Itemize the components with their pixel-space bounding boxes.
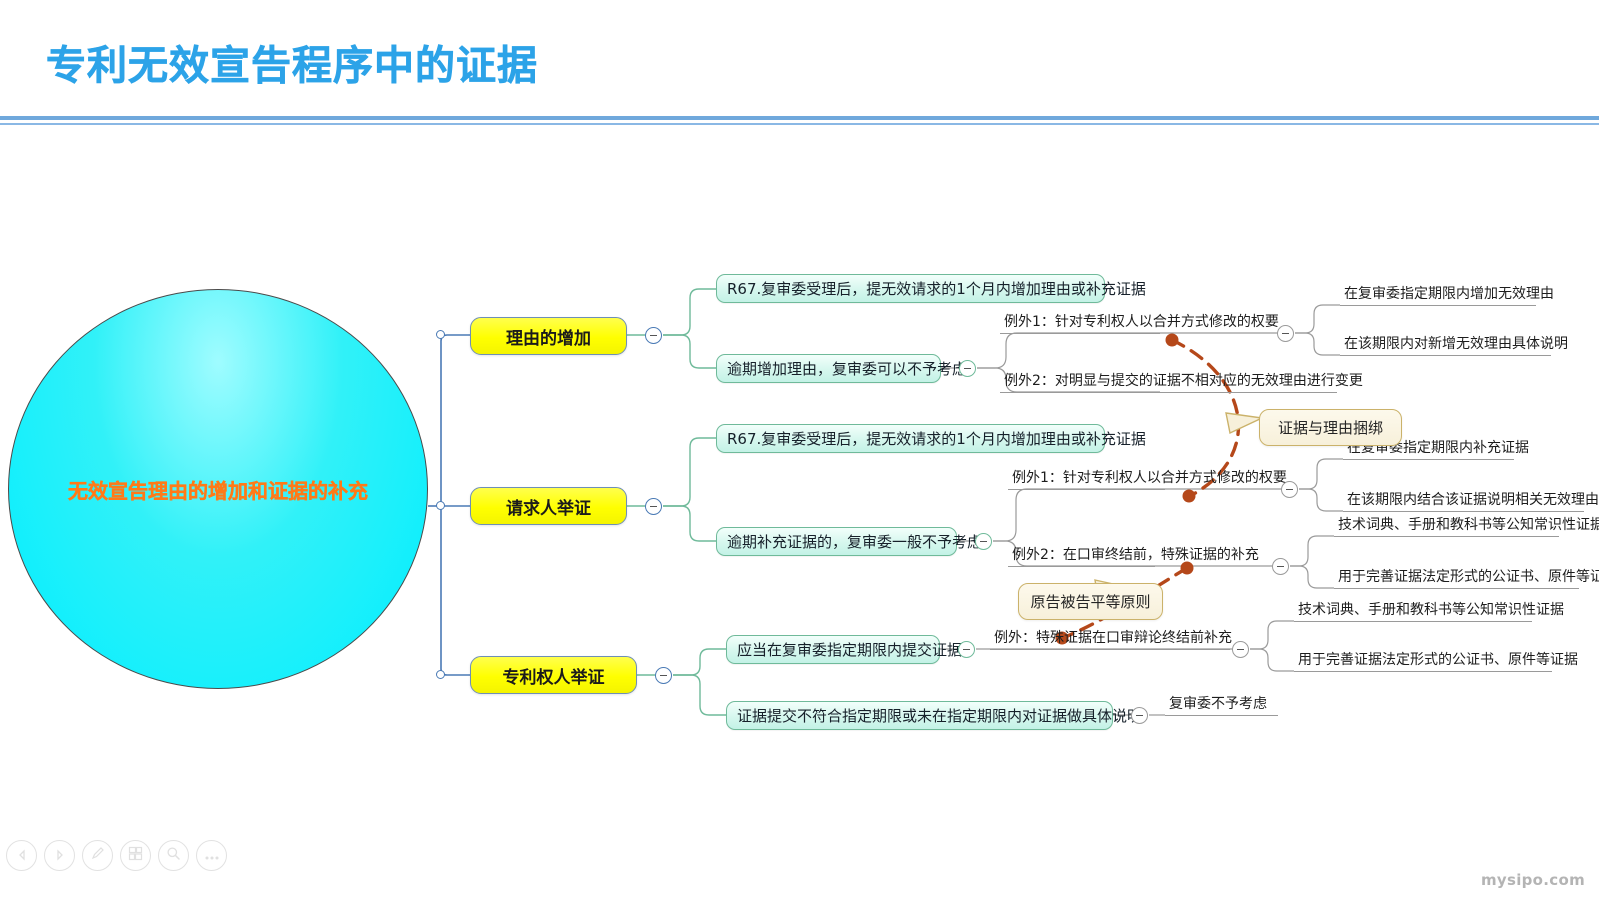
minus-icon [1277, 566, 1284, 568]
zoom-button[interactable] [158, 840, 189, 871]
sub-node[interactable]: R67.复审委受理后，提无效请求的1个月内增加理由或补充证据 [716, 274, 1105, 303]
leaf-node[interactable]: 用于完善证据法定形式的公证书、原件等证据 [1334, 567, 1579, 589]
branch-label: 专利权人举证 [503, 663, 605, 688]
leaf-node[interactable]: 用于完善证据法定形式的公证书、原件等证据 [1294, 650, 1552, 672]
leaf-node[interactable]: 在复审委指定期限内增加无效理由 [1340, 284, 1536, 306]
collapse-toggle[interactable] [1232, 641, 1249, 658]
page-header: 专利无效宣告程序中的证据 [0, 0, 1599, 128]
sub-node[interactable]: R67.复审委受理后，提无效请求的1个月内增加理由或补充证据 [716, 424, 1105, 453]
collapse-toggle[interactable] [645, 498, 662, 515]
prev-button[interactable] [6, 840, 37, 871]
leaf-node-label: 技术词典、手册和教科书等公知常识性证据 [1338, 514, 1599, 534]
leaf-node-label: 复审委不予考虑 [1169, 693, 1267, 713]
callout-equal-parties-principle[interactable]: 原告被告平等原则 [1018, 583, 1163, 620]
collapse-toggle[interactable] [1277, 325, 1294, 342]
sub-node[interactable]: 应当在复审委指定期限内提交证据 [726, 635, 940, 664]
leaf-node[interactable]: 例外2：对明显与提交的证据不相对应的无效理由进行变更 [1000, 371, 1337, 393]
leaf-node-label: 例外2：在口审终结前，特殊证据的补充 [1012, 544, 1259, 564]
collapse-toggle[interactable] [959, 360, 976, 377]
triangle-right-icon [54, 846, 66, 865]
callout-evidence-reason-binding[interactable]: 证据与理由捆绑 [1259, 409, 1402, 446]
minus-icon [650, 506, 657, 508]
collapse-toggle[interactable] [1131, 707, 1148, 724]
branch-node-reason-addition[interactable]: 理由的增加 [470, 317, 627, 355]
minus-icon [1136, 715, 1143, 717]
ellipsis-icon [204, 846, 220, 865]
magnifier-icon [166, 846, 181, 865]
branch-label: 请求人举证 [506, 494, 591, 519]
header-divider-thin [0, 123, 1599, 125]
relationship-endpoint-dot [1183, 490, 1196, 503]
leaf-node-label: 在复审委指定期限内增加无效理由 [1344, 283, 1554, 303]
branch-node-patentee-evidence[interactable]: 专利权人举证 [470, 656, 637, 694]
leaf-node-label: 例外2：对明显与提交的证据不相对应的无效理由进行变更 [1004, 370, 1363, 390]
minus-icon [1286, 489, 1293, 491]
layout-icon [128, 846, 143, 865]
relationship-endpoint-dot [1166, 334, 1179, 347]
sub-node-label: 证据提交不符合指定期限或未在指定期限内对证据做具体说明 [737, 705, 1142, 726]
leaf-node[interactable]: 在该期限内结合该证据说明相关无效理由 [1343, 490, 1584, 512]
leaf-node-label: 在该期限内对新增无效理由具体说明 [1344, 333, 1568, 353]
collapse-toggle[interactable] [1281, 481, 1298, 498]
callout-label: 证据与理由捆绑 [1278, 417, 1383, 438]
collapse-toggle[interactable] [1272, 558, 1289, 575]
leaf-node-label: 在该期限内结合该证据说明相关无效理由 [1347, 489, 1599, 509]
leaf-node-label: 例外1：针对专利权人以合并方式修改的权要 [1004, 311, 1279, 331]
collapse-toggle[interactable] [958, 641, 975, 658]
collapse-toggle[interactable] [975, 533, 992, 550]
minus-icon [650, 335, 657, 337]
leaf-node[interactable]: 技术词典、手册和教科书等公知常识性证据 [1294, 600, 1532, 622]
root-connector-dot [436, 670, 445, 679]
leaf-node-label: 例外：特殊证据在口审辩论终结前补充 [994, 627, 1232, 647]
bottom-toolbar: mysipo.com [0, 827, 1599, 899]
leaf-node[interactable]: 复审委不予考虑 [1165, 694, 1278, 716]
layout-button[interactable] [120, 840, 151, 871]
sub-node[interactable]: 逾期补充证据的，复审委一般不予考虑 [716, 527, 957, 556]
more-button[interactable] [196, 840, 227, 871]
leaf-node[interactable]: 例外2：在口审终结前，特殊证据的补充 [1008, 545, 1155, 567]
sub-node-label: 应当在复审委指定期限内提交证据 [737, 639, 962, 660]
root-connector-dot [436, 501, 445, 510]
minus-icon [980, 541, 987, 543]
mindmap-canvas[interactable]: 无效宣告理由的增加和证据的补充 理由的增加 R67.复审委受理后，提无效请求的1… [0, 128, 1599, 828]
leaf-node-label: 用于完善证据法定形式的公证书、原件等证据 [1298, 649, 1578, 669]
leaf-node[interactable]: 例外1：针对专利权人以合并方式修改的权要 [1008, 468, 1165, 490]
page-title: 专利无效宣告程序中的证据 [46, 33, 538, 91]
header-divider-thick [0, 116, 1599, 120]
leaf-node[interactable]: 技术词典、手册和教科书等公知常识性证据 [1334, 515, 1559, 537]
collapse-toggle[interactable] [645, 327, 662, 344]
sub-node-label: 逾期补充证据的，复审委一般不予考虑 [727, 531, 982, 552]
pencil-icon [90, 846, 105, 865]
branch-label: 理由的增加 [506, 324, 591, 349]
leaf-node-label: 例外1：针对专利权人以合并方式修改的权要 [1012, 467, 1287, 487]
leaf-node[interactable]: 例外1：针对专利权人以合并方式修改的权要 [1000, 312, 1160, 334]
edit-button[interactable] [82, 840, 113, 871]
triangle-left-icon [16, 846, 28, 865]
root-node-label: 无效宣告理由的增加和证据的补充 [68, 475, 368, 504]
minus-icon [1282, 333, 1289, 335]
leaf-node-label: 技术词典、手册和教科书等公知常识性证据 [1298, 599, 1564, 619]
sub-node-label: R67.复审委受理后，提无效请求的1个月内增加理由或补充证据 [727, 278, 1146, 299]
branch-node-petitioner-evidence[interactable]: 请求人举证 [470, 487, 627, 525]
minus-icon [964, 368, 971, 370]
callout-label: 原告被告平等原则 [1030, 591, 1150, 612]
sub-node[interactable]: 逾期增加理由，复审委可以不予考虑 [716, 354, 941, 383]
mindmap-app: 专利无效宣告程序中的证据 [0, 0, 1599, 899]
minus-icon [1237, 649, 1244, 651]
watermark: mysipo.com [1481, 871, 1585, 889]
root-connector-dot [436, 330, 445, 339]
collapse-toggle[interactable] [655, 667, 672, 684]
leaf-node-label: 用于完善证据法定形式的公证书、原件等证据 [1338, 566, 1599, 586]
leaf-node[interactable]: 在该期限内对新增无效理由具体说明 [1340, 334, 1551, 356]
root-node[interactable]: 无效宣告理由的增加和证据的补充 [8, 289, 428, 689]
next-button[interactable] [44, 840, 75, 871]
leaf-node[interactable]: 例外：特殊证据在口审辩论终结前补充 [990, 628, 1230, 650]
sub-node-label: 逾期增加理由，复审委可以不予考虑 [727, 358, 967, 379]
sub-node[interactable]: 证据提交不符合指定期限或未在指定期限内对证据做具体说明 [726, 701, 1113, 730]
minus-icon [660, 675, 667, 677]
minus-icon [963, 649, 970, 651]
sub-node-label: R67.复审委受理后，提无效请求的1个月内增加理由或补充证据 [727, 428, 1146, 449]
